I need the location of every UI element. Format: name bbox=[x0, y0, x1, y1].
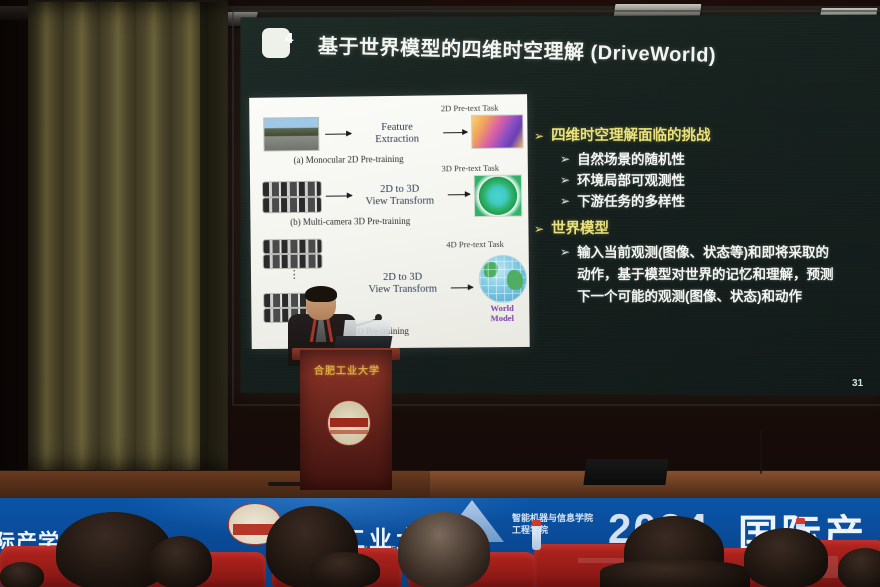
caption-b: (b) Multi-camera 3D Pre-training bbox=[290, 216, 410, 227]
emblem-band-secondary bbox=[330, 430, 368, 434]
process-feature-extraction: Feature Extraction bbox=[357, 121, 437, 146]
process-line-1: Feature bbox=[381, 122, 413, 133]
bullet-text: 下游任务的多样性 bbox=[577, 191, 685, 212]
water-bottle bbox=[532, 524, 541, 550]
bullet-level1-challenges: ➢ 四维时空理解面临的挑战 bbox=[534, 126, 874, 147]
bullet-line-3: 下一个可能的观测(图像、状态)和动作 bbox=[577, 286, 834, 308]
process-view-transform-4d: 2D to 3D View Transform bbox=[355, 271, 451, 296]
slide-bullet-list: ➢ 四维时空理解面临的挑战 ➢ 自然场景的随机性 ➢ 环境局部可观测性 ➢ 下游… bbox=[534, 126, 874, 308]
arrow-bullet-icon: ➢ bbox=[560, 170, 570, 191]
slide-badge-number: 4 bbox=[285, 30, 293, 47]
process-line-1: 2D to 3D bbox=[383, 272, 422, 283]
bullet-text: 自然场景的随机性 bbox=[577, 149, 685, 170]
task-label-2d: 2D Pre-text Task bbox=[441, 103, 499, 114]
audience-head bbox=[838, 548, 880, 587]
monocular-image-thumbnail bbox=[263, 117, 319, 152]
diagram-panel: Feature Extraction 2D Pre-text Task (a) … bbox=[249, 94, 530, 349]
bev-segmentation-output bbox=[474, 174, 523, 217]
depth-map-output bbox=[471, 114, 524, 149]
audience-shoulders bbox=[310, 552, 380, 587]
bullet-text: 环境局部可观测性 bbox=[577, 170, 685, 191]
water-bottle-cap bbox=[796, 518, 805, 524]
audience-head bbox=[150, 536, 212, 587]
process-line-2: Extraction bbox=[375, 134, 419, 146]
slide-page-number: 31 bbox=[852, 378, 863, 389]
arrow-icon bbox=[443, 132, 467, 133]
audience-shoulders bbox=[600, 560, 750, 587]
world-model-line-1: World bbox=[490, 303, 513, 313]
emblem-band bbox=[330, 418, 368, 427]
arrow-icon bbox=[451, 287, 473, 288]
sponsor-line-1: 智能机器与信息学院 bbox=[512, 513, 593, 523]
podium-emblem-icon bbox=[327, 400, 371, 446]
audience-head bbox=[398, 512, 490, 587]
audience-head bbox=[0, 562, 44, 587]
process-line-2: View Transform bbox=[365, 196, 434, 208]
audience-head bbox=[744, 528, 828, 587]
bullet-text: 四维时空理解面临的挑战 bbox=[551, 126, 711, 147]
sponsor-line-2: 工程学院 bbox=[512, 525, 548, 535]
multicamera-ring-top bbox=[262, 181, 322, 198]
globe-grid bbox=[480, 256, 527, 303]
arrow-bullet-icon: ➢ bbox=[534, 219, 544, 240]
task-label-4d: 4D Pre-text Task bbox=[446, 239, 504, 250]
multicamera-ring-bottom bbox=[262, 197, 322, 214]
arrow-bullet-icon: ➢ bbox=[534, 126, 544, 147]
bullet-line-1: 输入当前观测(图像、状态等)和即将采取的 bbox=[577, 242, 834, 264]
world-model-label: World Model bbox=[473, 303, 531, 324]
process-line-2: View Transform bbox=[368, 284, 437, 296]
bullet-level1-world-model: ➢ 世界模型 bbox=[534, 219, 874, 240]
arrow-icon bbox=[326, 195, 352, 196]
task-label-3d: 3D Pre-text Task bbox=[441, 163, 499, 174]
bullet-line-2: 动作，基于模型对世界的记忆和理解，预测 bbox=[577, 264, 834, 286]
arrow-icon bbox=[325, 133, 351, 134]
banner-sponsor-text: 智能机器与信息学院 工程学院 bbox=[512, 512, 593, 536]
seat-tag bbox=[578, 558, 624, 563]
bullet-text: 世界模型 bbox=[551, 219, 609, 240]
arrow-bullet-icon: ➢ bbox=[560, 149, 570, 170]
arrow-bullet-icon: ➢ bbox=[560, 191, 570, 212]
bullet-level2-world-model-desc: ➢ 输入当前观测(图像、状态等)和即将采取的 动作，基于模型对世界的记忆和理解，… bbox=[560, 242, 874, 308]
multicamera-ring-seq-1 bbox=[263, 239, 323, 255]
stage-floor-edge bbox=[0, 470, 880, 471]
world-model-globe-icon bbox=[479, 255, 528, 304]
auditorium-photo: 4 基于世界模型的四维时空理解 (DriveWorld) Feature Ext… bbox=[0, 0, 880, 587]
bullet-level2-observability: ➢ 环境局部可观测性 bbox=[560, 170, 874, 191]
bullet-paragraph: 输入当前观测(图像、状态等)和即将采取的 动作，基于模型对世界的记忆和理解，预测… bbox=[577, 242, 834, 308]
multicamera-ring-seq-2 bbox=[263, 254, 323, 270]
stage-curtain bbox=[28, 2, 228, 470]
floor-monitor-speaker bbox=[583, 459, 668, 485]
arrow-bullet-icon: ➢ bbox=[560, 242, 570, 263]
podium-institution-text: 合肥工业大学 bbox=[306, 362, 388, 376]
curtain-shadow bbox=[200, 2, 232, 470]
cable bbox=[760, 430, 762, 474]
bullet-level2-randomness: ➢ 自然场景的随机性 bbox=[560, 149, 874, 170]
process-line-1: 2D to 3D bbox=[380, 184, 419, 195]
bullet-level2-diversity: ➢ 下游任务的多样性 bbox=[560, 191, 874, 212]
arrow-icon bbox=[448, 194, 470, 195]
world-model-line-2: Model bbox=[491, 313, 514, 323]
vertical-ellipsis-icon: ⋮ bbox=[289, 273, 300, 277]
water-bottle-cap bbox=[532, 520, 541, 526]
caption-a: (a) Monocular 2D Pre-training bbox=[294, 154, 404, 165]
process-view-transform-3d: 2D to 3D View Transform bbox=[354, 183, 446, 208]
speaker-hair bbox=[305, 286, 337, 302]
